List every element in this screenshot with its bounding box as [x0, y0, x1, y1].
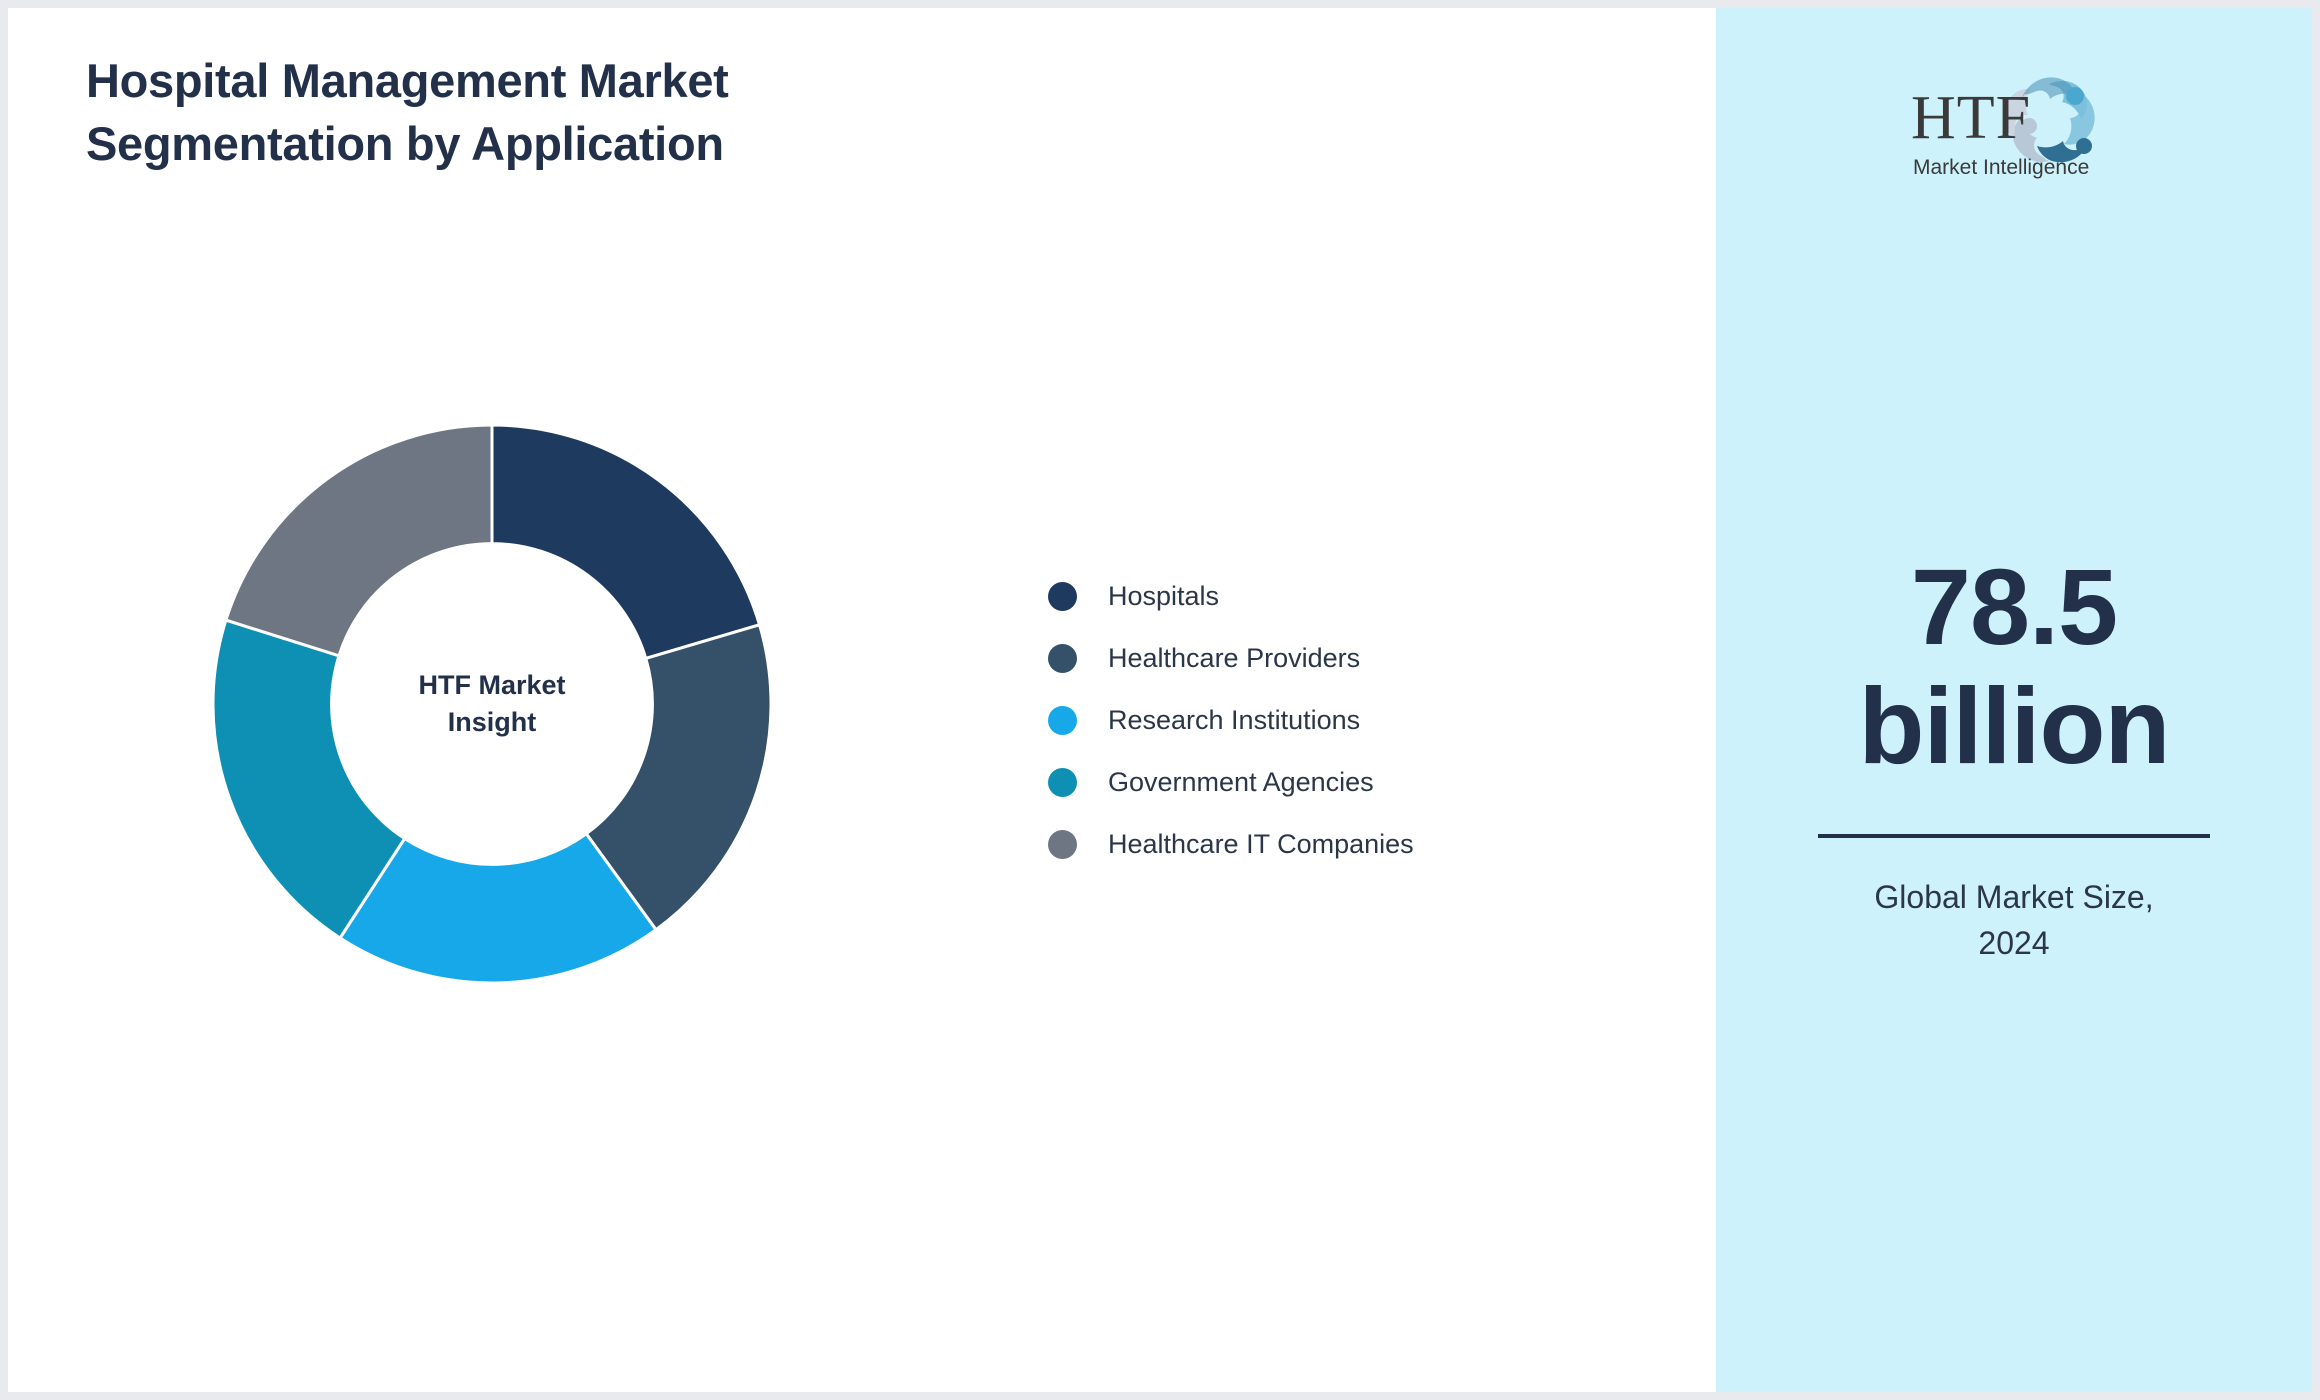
- stat-divider: [1818, 834, 2210, 838]
- market-size-caption: Global Market Size, 2024: [1814, 874, 2214, 967]
- legend-item-government-agencies[interactable]: Government Agencies: [1048, 751, 1414, 813]
- legend-item-healthcare-providers[interactable]: Healthcare Providers: [1048, 627, 1414, 689]
- market-size-number: 78.5: [1814, 548, 2214, 667]
- donut-slice-group: [213, 425, 771, 983]
- market-size-caption-line-2: 2024: [1978, 925, 2049, 961]
- legend-item-label: Hospitals: [1108, 581, 1219, 612]
- donut-slice[interactable]: [226, 425, 492, 656]
- logo-primary-text: HTF: [1911, 84, 2031, 152]
- legend-swatch-icon: [1048, 644, 1077, 673]
- chart-panel: Hospital Management Market Segmentation …: [8, 8, 1716, 1392]
- page-title-line-1: Hospital Management Market: [86, 54, 729, 107]
- stat-panel: HTF Market Intelligence 78.5 billion Glo…: [1716, 8, 2312, 1392]
- infographic-canvas: Hospital Management Market Segmentation …: [0, 0, 2320, 1400]
- legend-swatch-icon: [1048, 830, 1077, 859]
- legend-swatch-icon: [1048, 582, 1077, 611]
- market-size-caption-line-1: Global Market Size,: [1874, 879, 2153, 915]
- legend-item-research-institutions[interactable]: Research Institutions: [1048, 689, 1414, 751]
- page-title-line-2: Segmentation by Application: [86, 117, 724, 170]
- legend-item-healthcare-it-companies[interactable]: Healthcare IT Companies: [1048, 813, 1414, 875]
- donut-chart-svg: [213, 425, 771, 983]
- htf-market-intelligence-logo: HTF Market Intelligence: [1899, 66, 2129, 184]
- market-size-stat: 78.5 billion Global Market Size, 2024: [1814, 548, 2214, 966]
- donut-slice[interactable]: [492, 425, 760, 658]
- legend-item-label: Research Institutions: [1108, 705, 1360, 736]
- page-title: Hospital Management Market Segmentation …: [86, 50, 986, 175]
- legend-item-label: Government Agencies: [1108, 767, 1374, 798]
- legend-swatch-icon: [1048, 768, 1077, 797]
- legend-item-hospitals[interactable]: Hospitals: [1048, 565, 1414, 627]
- legend-item-label: Healthcare Providers: [1108, 643, 1360, 674]
- logo-secondary-text: Market Intelligence: [1913, 156, 2089, 179]
- legend-swatch-icon: [1048, 706, 1077, 735]
- market-size-value: 78.5 billion: [1814, 548, 2214, 786]
- legend-item-label: Healthcare IT Companies: [1108, 829, 1414, 860]
- chart-legend: Hospitals Healthcare Providers Research …: [1048, 565, 1414, 875]
- market-size-unit: billion: [1814, 667, 2214, 786]
- donut-chart: HTF Market Insight: [213, 425, 771, 983]
